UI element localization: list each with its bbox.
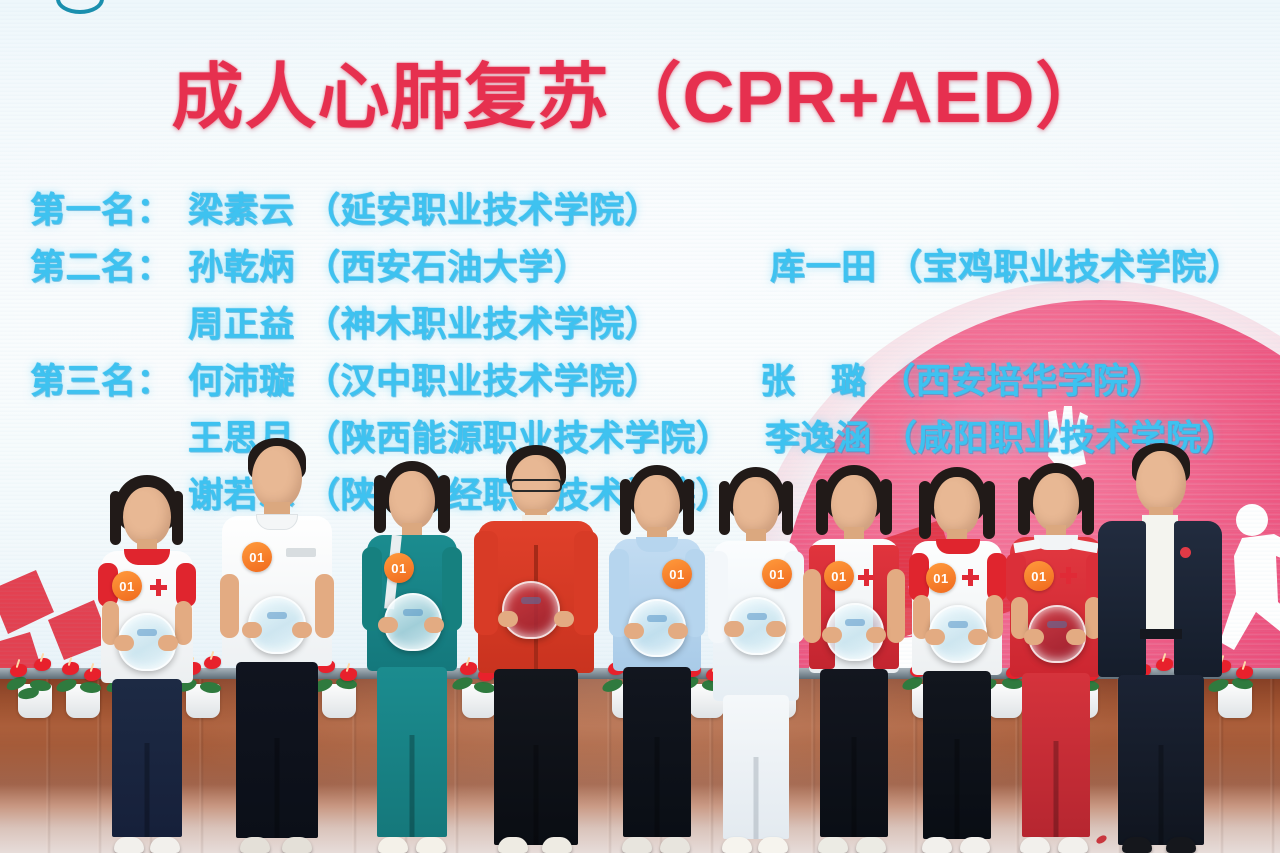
sleeve-right (685, 549, 705, 637)
head (733, 477, 779, 535)
awardee-row: 01 01 (0, 0, 1280, 853)
shoe (1058, 837, 1088, 853)
leg-gap (852, 737, 857, 837)
shoe (1166, 837, 1196, 853)
awardee-5[interactable]: 01 (604, 465, 710, 853)
hair-side (816, 479, 828, 535)
awardee-3[interactable]: 01 (358, 461, 466, 853)
trophy-award[interactable] (502, 581, 560, 639)
hair-side (880, 479, 892, 535)
hand (925, 629, 945, 645)
shoe (282, 837, 312, 853)
shoe (722, 837, 752, 853)
hand (624, 623, 644, 639)
hand (424, 617, 444, 633)
sleeve-right (574, 531, 598, 635)
red-cross-icon (962, 569, 979, 586)
belt (1140, 629, 1182, 639)
shoe (818, 837, 848, 853)
shoe (758, 837, 788, 853)
leg-gap (534, 745, 539, 845)
hand (1066, 629, 1086, 645)
contestant-number-badge: 01 (112, 571, 142, 601)
shoe (240, 837, 270, 853)
head (389, 471, 435, 529)
hand (114, 635, 134, 651)
hair-side (110, 491, 121, 545)
hair-side (782, 481, 793, 535)
forearm-right (986, 595, 1003, 639)
hair-side (683, 479, 694, 535)
leg-gap (955, 739, 960, 839)
hand (554, 611, 574, 627)
awardee-6[interactable]: 01 (704, 467, 808, 853)
hair-side (719, 481, 730, 535)
hand (158, 635, 178, 651)
lapel-pin-icon (1180, 547, 1191, 558)
shoe (856, 837, 886, 853)
head (123, 487, 171, 545)
sleeve-left (362, 547, 382, 631)
head (1136, 451, 1186, 513)
sleeve-left (474, 531, 498, 635)
hand (1024, 629, 1044, 645)
hair-side (620, 479, 631, 535)
head (1033, 473, 1079, 531)
shoe (498, 837, 528, 853)
forearm-right (175, 601, 192, 645)
suit-jacket-right (1174, 521, 1222, 677)
hand (766, 621, 786, 637)
sleeve-left (1006, 553, 1026, 603)
hair-side (172, 491, 183, 545)
awardee-7[interactable]: 01 (800, 465, 908, 853)
shoe (378, 837, 408, 853)
leg-gap (1054, 741, 1059, 837)
contestant-number-badge: 01 (242, 542, 272, 572)
shoe (150, 837, 180, 853)
contestant-number-badge: 01 (1024, 561, 1054, 591)
contestant-number-badge: 01 (384, 553, 414, 583)
leg-gap (1159, 745, 1164, 845)
leg-gap (754, 757, 759, 839)
shoe (114, 837, 144, 853)
shoe (660, 837, 690, 853)
glasses-icon (510, 479, 562, 492)
hair-side (438, 475, 450, 533)
leg-gap (410, 735, 415, 837)
sponsor-mark (286, 548, 316, 557)
hair-side (919, 481, 931, 539)
collar (256, 514, 298, 530)
arm-right (887, 569, 905, 643)
hair-side (1018, 477, 1030, 535)
leg-gap (655, 737, 660, 837)
hand (378, 617, 398, 633)
ceremony-photo: 成人心肺复苏（CPR+AED） 第一名： 梁素云 （延安职业技术学院） 第二名：… (0, 0, 1280, 853)
shoe (622, 837, 652, 853)
hand (724, 621, 744, 637)
awardee-2[interactable]: 01 (216, 438, 338, 853)
collar (636, 537, 678, 552)
awardee-9[interactable]: 01 (1002, 463, 1110, 853)
hair-side (374, 475, 386, 533)
shoe (960, 837, 990, 853)
hand (668, 623, 688, 639)
red-cross-icon (1060, 567, 1077, 584)
head (831, 475, 877, 533)
sleeve-right (442, 547, 462, 631)
collar (936, 539, 980, 554)
arm-left (220, 574, 239, 638)
shoe (416, 837, 446, 853)
arm-left (803, 569, 821, 643)
leg-gap (145, 743, 150, 837)
shoe (1020, 837, 1050, 853)
shoe (922, 837, 952, 853)
contestant-number-badge: 01 (662, 559, 692, 589)
dress-shirt (1142, 515, 1178, 635)
head (934, 477, 980, 535)
awardee-8[interactable]: 01 (904, 467, 1010, 853)
awardee-10[interactable] (1098, 443, 1224, 853)
hand (498, 611, 518, 627)
hand (822, 627, 842, 643)
leg-gap (275, 738, 280, 838)
hand (242, 622, 262, 638)
red-cross-icon (150, 579, 167, 596)
collar (124, 549, 170, 565)
arm-right (315, 574, 334, 638)
hair-side (983, 481, 995, 539)
hand (292, 622, 312, 638)
hair-side (1082, 477, 1094, 535)
awardee-4[interactable] (472, 445, 600, 853)
hand (866, 627, 886, 643)
shoe (1122, 837, 1152, 853)
contestant-number-badge: 01 (926, 563, 956, 593)
awardee-1[interactable]: 01 (92, 475, 202, 853)
hand (968, 629, 988, 645)
shoe (542, 837, 572, 853)
red-cross-icon (858, 569, 875, 586)
head (634, 475, 680, 533)
contestant-number-badge: 01 (824, 561, 854, 591)
suit-jacket-left (1098, 521, 1146, 677)
head (252, 446, 302, 508)
contestant-number-badge: 01 (762, 559, 792, 589)
